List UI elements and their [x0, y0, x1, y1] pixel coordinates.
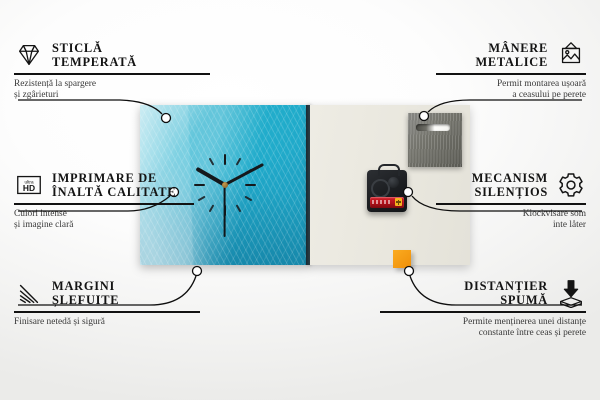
minute-hand — [224, 163, 264, 186]
callout-subtitle-line2: și imagine clară — [14, 220, 229, 231]
clock-mechanism — [367, 170, 407, 212]
callout-rule — [14, 311, 200, 313]
callout-title-line2: SPUMĂ — [464, 293, 548, 308]
callout-title-line2: ȘLEFUITE — [52, 293, 119, 308]
callout-subtitle-line1: Klockvisare som — [436, 209, 586, 220]
callout-subtitle-line2: a ceasului pe perete — [436, 90, 586, 101]
callout-distantier-spuma: DISTANȚIER SPUMĂ Permite menținerea unei… — [380, 278, 586, 339]
foam-spacer-arrow-icon — [556, 278, 586, 308]
mechanism-hanging-loop — [378, 164, 400, 176]
callout-rule — [380, 311, 586, 313]
callout-subtitle-line1: Rezistență la spargere — [14, 79, 229, 90]
callout-subtitle-line2: și zgârieturi — [14, 90, 229, 101]
picture-hanger-icon — [556, 40, 586, 70]
callout-title-line1: STICLĂ — [52, 41, 137, 56]
beveled-edges-icon — [14, 278, 44, 308]
callout-title-line2: METALICE — [475, 55, 548, 70]
callout-margini-slefuite: MARGINI ȘLEFUITE Finisare netedă și sigu… — [14, 278, 229, 328]
battery — [370, 197, 404, 208]
hanger-plate — [408, 113, 462, 167]
callout-subtitle-line1: Culori intense — [14, 209, 229, 220]
mechanism-shaft — [388, 177, 399, 188]
callout-title-line2: SILENȚIOS — [472, 185, 548, 200]
callout-title-line1: MECANISM — [472, 171, 548, 186]
callout-mecanism-silentios: MECANISM SILENȚIOS Klockvisare som inte … — [436, 170, 586, 231]
gear-icon — [556, 170, 586, 200]
callout-subtitle-line1: Finisare netedă și sigură — [14, 317, 229, 328]
callout-imprimare-calitate: ultra HD IMPRIMARE DE ÎNALTĂ CALITATE Cu… — [14, 170, 229, 231]
svg-text:HD: HD — [23, 183, 35, 193]
callout-rule — [14, 73, 210, 75]
callout-rule — [436, 73, 586, 75]
battery-label-stripes — [372, 200, 392, 204]
callout-title-line2: TEMPERATĂ — [52, 55, 137, 70]
infographic-canvas: STICLĂ TEMPERATĂ Rezistență la spargere … — [0, 0, 600, 400]
callout-subtitle-line1: Permite menținerea unei distanțe — [380, 317, 586, 328]
callout-subtitle-line2: inte låter — [436, 220, 586, 231]
ultra-hd-icon: ultra HD — [14, 170, 44, 200]
callout-rule — [14, 203, 194, 205]
hanger-slot — [416, 124, 450, 131]
callout-title-line1: IMPRIMARE DE — [52, 171, 176, 186]
callout-manere-metalice: MÂNERE METALICE Permit montarea ușoară a… — [436, 40, 586, 101]
callout-subtitle-line2: constante între ceas și perete — [380, 328, 586, 339]
foam-spacer — [393, 250, 411, 268]
callout-subtitle-line1: Permit montarea ușoară — [436, 79, 586, 90]
diamond-icon — [14, 40, 44, 70]
leader-dot-margini — [193, 267, 202, 276]
callout-sticla-temperata: STICLĂ TEMPERATĂ Rezistență la spargere … — [14, 40, 229, 101]
callout-rule — [436, 203, 586, 205]
callout-title-line1: DISTANȚIER — [464, 279, 548, 294]
battery-plus-terminal — [395, 198, 402, 206]
callout-title-line2: ÎNALTĂ CALITATE — [52, 185, 176, 200]
callout-title-line1: MARGINI — [52, 279, 119, 294]
callout-title-line1: MÂNERE — [475, 41, 548, 56]
